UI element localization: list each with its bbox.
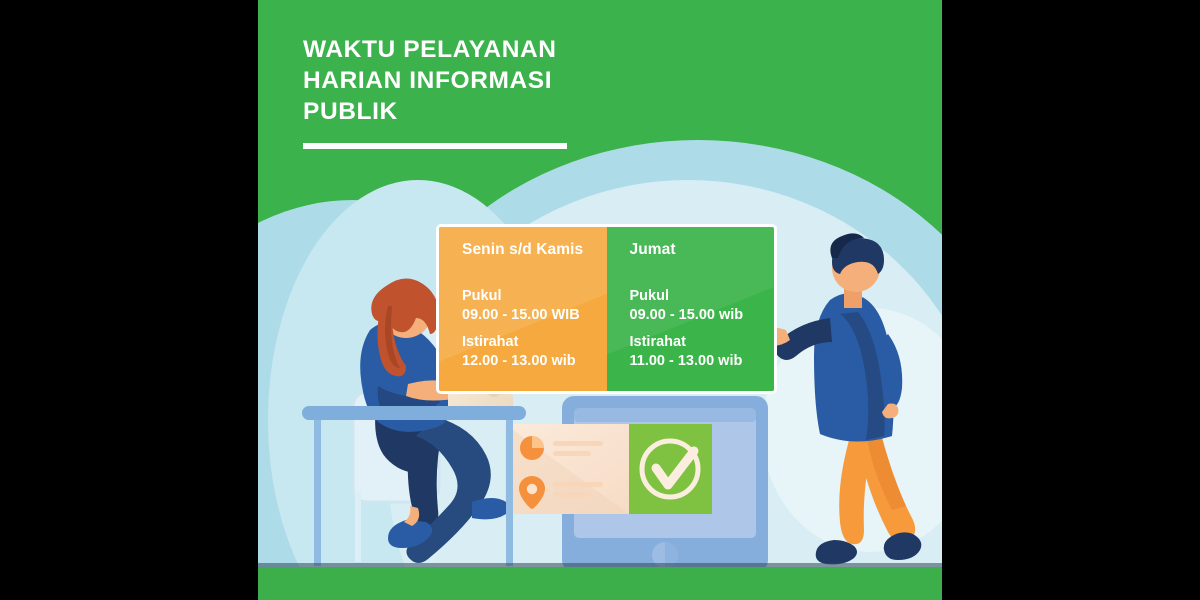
schedule-day-label: Jumat — [630, 241, 775, 259]
schedule-row-hours: Pukul 09.00 - 15.00 wib — [630, 287, 775, 325]
row-label: Istirahat — [630, 333, 775, 352]
schedule-column-weekdays: Senin s/d Kamis Pukul 09.00 - 15.00 WIB … — [439, 227, 607, 391]
schedule-column-friday: Jumat Pukul 09.00 - 15.00 wib Istirahat … — [607, 227, 775, 391]
poster-canvas: WAKTU PELAYANAN HARIAN INFORMASI PUBLIK … — [258, 0, 942, 600]
schedule-card: Senin s/d Kamis Pukul 09.00 - 15.00 WIB … — [436, 224, 777, 394]
bottom-band — [258, 563, 942, 600]
info-card-clock-location — [505, 424, 629, 514]
row-label: Pukul — [462, 287, 607, 306]
row-value: 09.00 - 15.00 wib — [630, 306, 775, 325]
row-value: 12.00 - 13.00 wib — [462, 352, 607, 371]
title-line-3: PUBLIK — [303, 96, 623, 127]
poster-stage: WAKTU PELAYANAN HARIAN INFORMASI PUBLIK … — [0, 0, 1200, 600]
title-underline — [303, 143, 567, 149]
row-label: Pukul — [630, 287, 775, 306]
check-circle — [629, 424, 712, 514]
row-value: 11.00 - 13.00 wib — [630, 352, 775, 371]
title-line-1: WAKTU PELAYANAN — [303, 34, 623, 65]
title-line-2: HARIAN INFORMASI — [303, 65, 623, 96]
row-label: Istirahat — [462, 333, 607, 352]
schedule-row-break: Istirahat 11.00 - 13.00 wib — [630, 333, 775, 371]
clock-icon — [520, 436, 544, 460]
schedule-day-label: Senin s/d Kamis — [462, 241, 607, 259]
title-block: WAKTU PELAYANAN HARIAN INFORMASI PUBLIK — [303, 34, 623, 149]
schedule-row-hours: Pukul 09.00 - 15.00 WIB — [462, 287, 607, 325]
row-value: 09.00 - 15.00 WIB — [462, 306, 607, 325]
schedule-row-break: Istirahat 12.00 - 13.00 wib — [462, 333, 607, 371]
